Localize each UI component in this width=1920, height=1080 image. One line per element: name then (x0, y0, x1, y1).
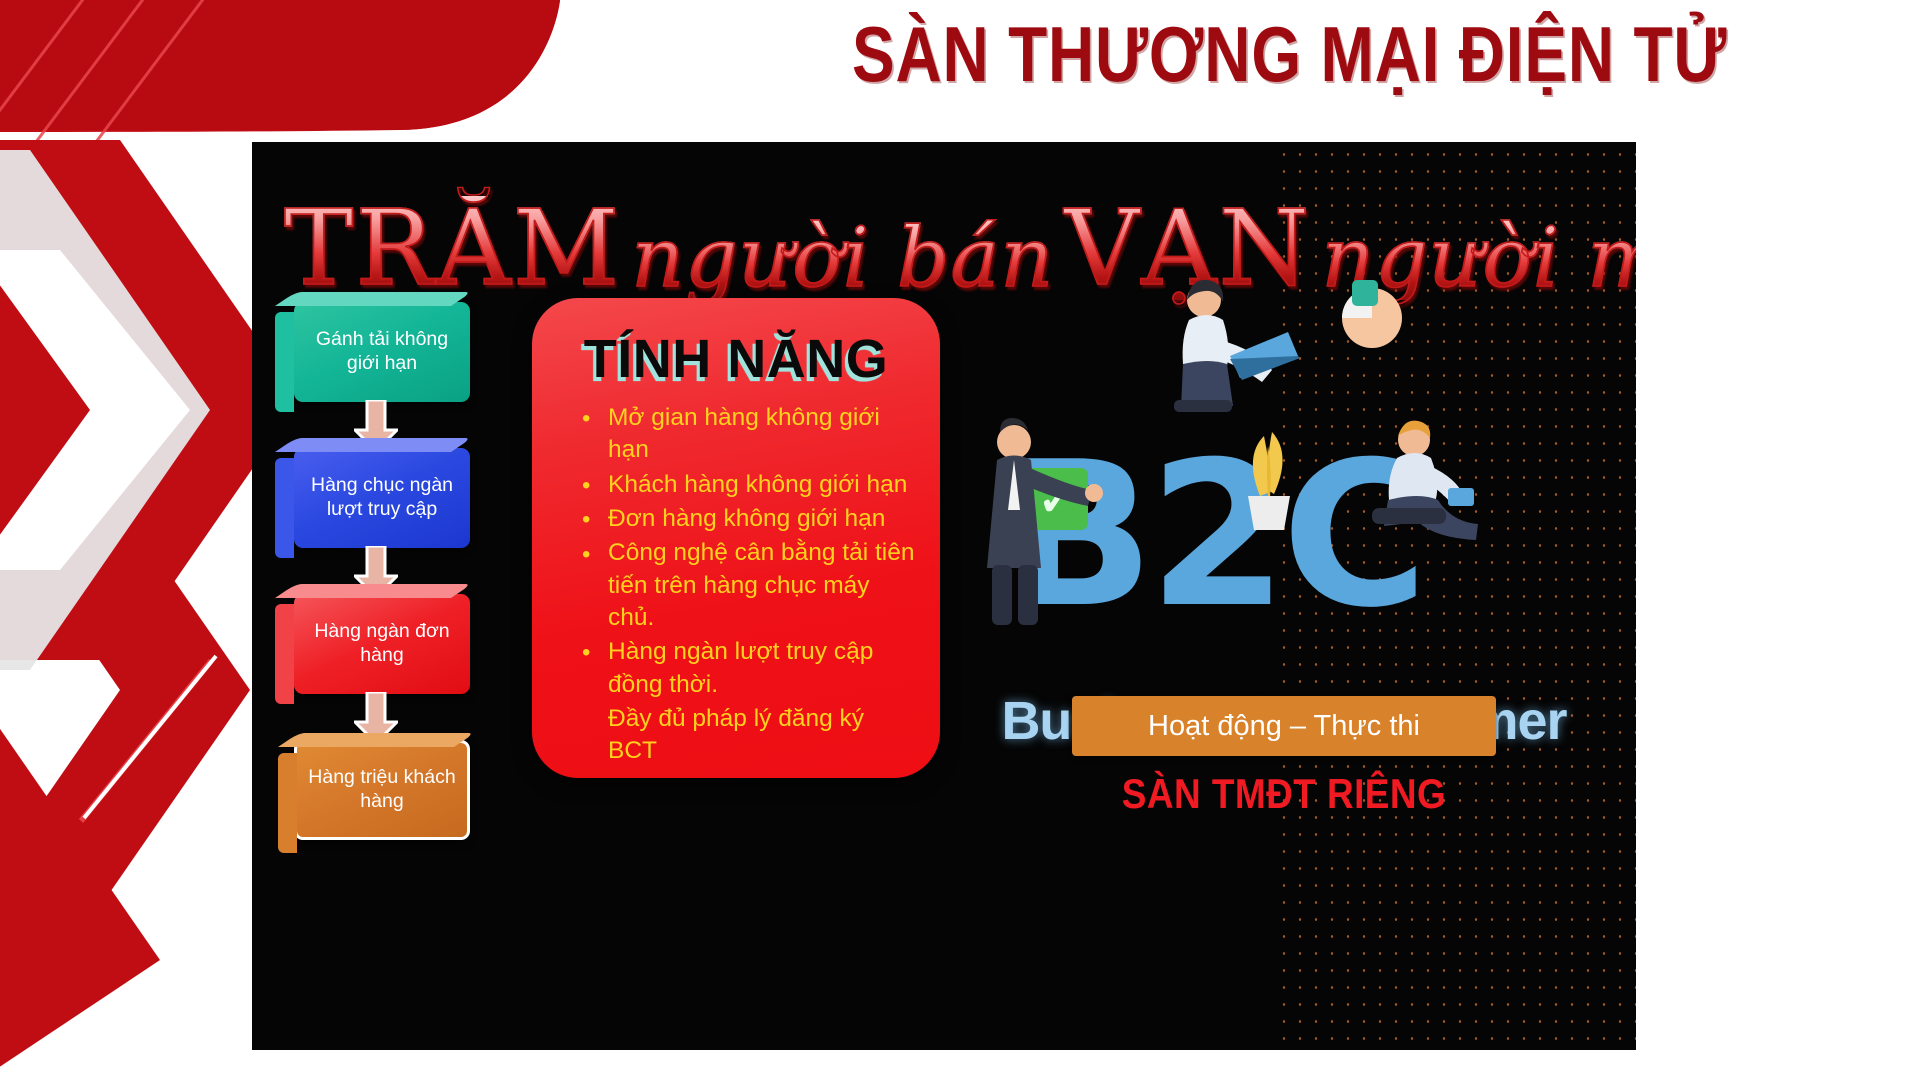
feature-card-title: TÍNH NĂNG (550, 328, 922, 390)
flow-step-1[interactable]: Gánh tải không giới hạn (294, 302, 470, 402)
list-item-label: Công nghệ cân bằng tải tiên tiến trên hà… (608, 539, 915, 631)
people-illustration-icon (942, 260, 1632, 690)
flow-step-2-label: Hàng chục ngàn lượt truy cập (294, 474, 470, 522)
list-item-label: Hàng ngàn lượt truy cập đồng thời. (608, 638, 873, 697)
bullet-dot-icon: • (582, 504, 590, 536)
list-item: • Khách hàng không giới hạn (580, 469, 918, 501)
bullet-dot-icon: • (582, 403, 590, 435)
list-item: • Đơn hàng không giới hạn (580, 503, 918, 535)
list-item-label: Đơn hàng không giới hạn (608, 505, 885, 532)
action-button-label: Hoạt động – Thực thi (1148, 710, 1420, 743)
list-item-label: Đầy đủ pháp lý đăng ký BCT (608, 705, 864, 764)
flow-step-1-label: Gánh tải không giới hạn (294, 328, 470, 376)
feature-card: TÍNH NĂNG • Mở gian hàng không giới hạn … (532, 298, 940, 778)
bullet-dot-icon: • (582, 539, 590, 571)
list-item: Đầy đủ pháp lý đăng ký BCT (580, 703, 918, 768)
flow-step-4[interactable]: Hàng triệu khách hàng (294, 740, 470, 840)
list-item: • Công nghệ cân bằng tải tiên tiến trên … (580, 537, 918, 634)
bullet-dot-icon: • (582, 470, 590, 502)
page-title: SÀN THƯƠNG MẠI ĐIỆN TỬ (760, 6, 1820, 102)
headline-word-tram: TRĂM (284, 196, 621, 300)
list-item-label: Khách hàng không giới hạn (608, 471, 907, 498)
page-title-text: SÀN THƯƠNG MẠI ĐIỆN TỬ (852, 9, 1727, 100)
flow-step-3-label: Hàng ngàn đơn hàng (294, 620, 470, 668)
action-button[interactable]: Hoạt động – Thực thi (1072, 696, 1496, 756)
slide-canvas: TRĂM người bán VẠN người mua Gánh tải kh… (252, 142, 1636, 1050)
flowchart: Gánh tải không giới hạn Hàng chục ngàn l… (274, 302, 484, 840)
list-item: • Hàng ngàn lượt truy cập đồng thời. (580, 636, 918, 701)
flow-step-3[interactable]: Hàng ngàn đơn hàng (294, 594, 470, 694)
flow-step-2[interactable]: Hàng chục ngàn lượt truy cập (294, 448, 470, 548)
bullet-dot-icon: • (582, 637, 590, 669)
list-item-label: Mở gian hàng không giới hạn (608, 404, 880, 463)
action-subtitle: SÀN TMĐT RIÊNG (1097, 770, 1470, 818)
list-item: • Mở gian hàng không giới hạn (580, 402, 918, 467)
flow-step-4-label: Hàng triệu khách hàng (297, 766, 467, 814)
feature-bullet-list: • Mở gian hàng không giới hạn • Khách hà… (550, 402, 922, 768)
